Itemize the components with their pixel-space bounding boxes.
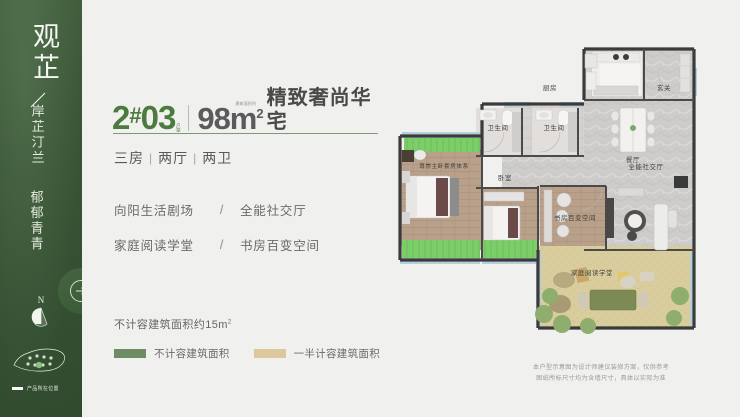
brand-subtitle-2: 郁郁青青 bbox=[27, 190, 44, 252]
room-summary: 三房 | 两厅 | 两卫 bbox=[114, 148, 232, 168]
area-superscript: 2 bbox=[256, 106, 263, 121]
unit-number: 2#03 bbox=[112, 101, 175, 134]
disclaimer-line-1: 本户型示意图为设计师建议装修方案，仅供参考 bbox=[470, 362, 732, 373]
headline-divider bbox=[188, 105, 189, 131]
feature-list: 向阳生活剧场 / 全能社交厅 家庭阅读学堂 / 书房百变空间 bbox=[114, 200, 320, 270]
feature-left: 向阳生活剧场 bbox=[114, 200, 204, 219]
legend-label-beige: 一半计容建筑面积 bbox=[294, 346, 380, 361]
room-label-entry: 玄关 bbox=[657, 83, 671, 92]
room-label-dining: 餐厅 bbox=[626, 155, 640, 164]
slide-root: 观芷 岸芷汀兰 郁郁青青 N bbox=[0, 0, 740, 417]
room-label-study: 书房百变空间 bbox=[554, 213, 596, 222]
feature-row: 向阳生活剧场 / 全能社交厅 bbox=[114, 200, 320, 219]
legend-swatch-beige bbox=[254, 349, 286, 358]
excluded-area-note: 不计容建筑面积约15m2 bbox=[114, 316, 232, 332]
room-label-kitchen: 厨房 bbox=[543, 83, 557, 92]
legend-swatch-green bbox=[114, 349, 146, 358]
room-label-bedroom: 卧室 bbox=[498, 173, 512, 182]
room-label-bathroom-2: 卫生间 bbox=[544, 123, 565, 132]
unit-type-tag: 户型 bbox=[176, 123, 181, 132]
brand-subtitle-1: 岸芷汀兰 bbox=[28, 104, 45, 166]
area-block: 建筑面积约 98m 2 bbox=[197, 103, 263, 134]
brand-title: 观芷 bbox=[20, 22, 62, 84]
room-summary-living: 两厅 bbox=[158, 148, 188, 168]
headline-underline bbox=[113, 133, 378, 134]
feature-row: 家庭阅读学堂 / 书房百变空间 bbox=[114, 235, 320, 254]
room-summary-sep-2: | bbox=[193, 151, 197, 165]
brand-sidebar: 观芷 岸芷汀兰 郁郁青青 N bbox=[0, 0, 82, 417]
floorplan: 厨房 玄关 卫生间 卫生间 餐厅 尊崇主卧套房体系 卧室 书房百变空间 全能社交… bbox=[392, 28, 722, 348]
feature-slash: / bbox=[204, 238, 240, 252]
area-legend: 不计容建筑面积 一半计容建筑面积 bbox=[114, 346, 380, 361]
legend-item-beige: 一半计容建筑面积 bbox=[254, 346, 380, 361]
arrow-right-icon bbox=[75, 286, 82, 296]
disclaimer: 本户型示意图为设计师建议装修方案，仅供参考 图纸所标尺寸均为含墙尺寸，具体以实际… bbox=[470, 362, 732, 384]
area-value: 98m bbox=[197, 103, 256, 134]
info-column: 2#03 户型 建筑面积约 98m 2 精致奢尚华宅 三房 | 两厅 | 两卫 … bbox=[112, 0, 392, 417]
feature-slash: / bbox=[204, 203, 240, 217]
compass-needle-icon bbox=[29, 305, 53, 329]
feature-left: 家庭阅读学堂 bbox=[114, 235, 204, 254]
sitemap-legend-swatch bbox=[12, 387, 23, 390]
sitemap-legend-label: 产品所在位置 bbox=[27, 385, 59, 392]
feature-right: 书房百变空间 bbox=[240, 235, 320, 254]
room-label-social-hall: 全能社交厅 bbox=[629, 162, 664, 171]
headline-tagline: 精致奢尚华宅 bbox=[267, 86, 392, 134]
legend-item-green: 不计容建筑面积 bbox=[114, 346, 230, 361]
compass: N bbox=[29, 295, 53, 329]
floorplan-svg: 厨房 玄关 卫生间 卫生间 餐厅 尊崇主卧套房体系 卧室 书房百变空间 全能社交… bbox=[392, 28, 722, 348]
disclaimer-line-2: 图纸所标尺寸均为含墙尺寸，具体以实际为准 bbox=[470, 373, 732, 384]
room-label-bathroom-1: 卫生间 bbox=[488, 123, 509, 132]
room-summary-sep-1: | bbox=[149, 151, 153, 165]
room-summary-baths: 两卫 bbox=[202, 148, 232, 168]
room-label-reading-garden: 家庭阅读学堂 bbox=[571, 268, 613, 277]
room-summary-bedrooms: 三房 bbox=[114, 148, 144, 168]
compass-north-label: N bbox=[29, 295, 53, 305]
headline: 2#03 户型 建筑面积约 98m 2 精致奢尚华宅 bbox=[112, 86, 392, 134]
sitemap-legend: 产品所在位置 bbox=[12, 385, 59, 392]
excluded-area-sup: 2 bbox=[228, 319, 232, 325]
room-label-master-suite: 尊崇主卧套房体系 bbox=[419, 162, 469, 170]
legend-label-green: 不计容建筑面积 bbox=[154, 346, 230, 361]
excluded-area-text: 不计容建筑面积约15m bbox=[114, 319, 228, 331]
area-note: 建筑面积约 bbox=[235, 101, 256, 107]
site-map-graphic bbox=[12, 344, 70, 374]
feature-right: 全能社交厅 bbox=[240, 200, 307, 219]
